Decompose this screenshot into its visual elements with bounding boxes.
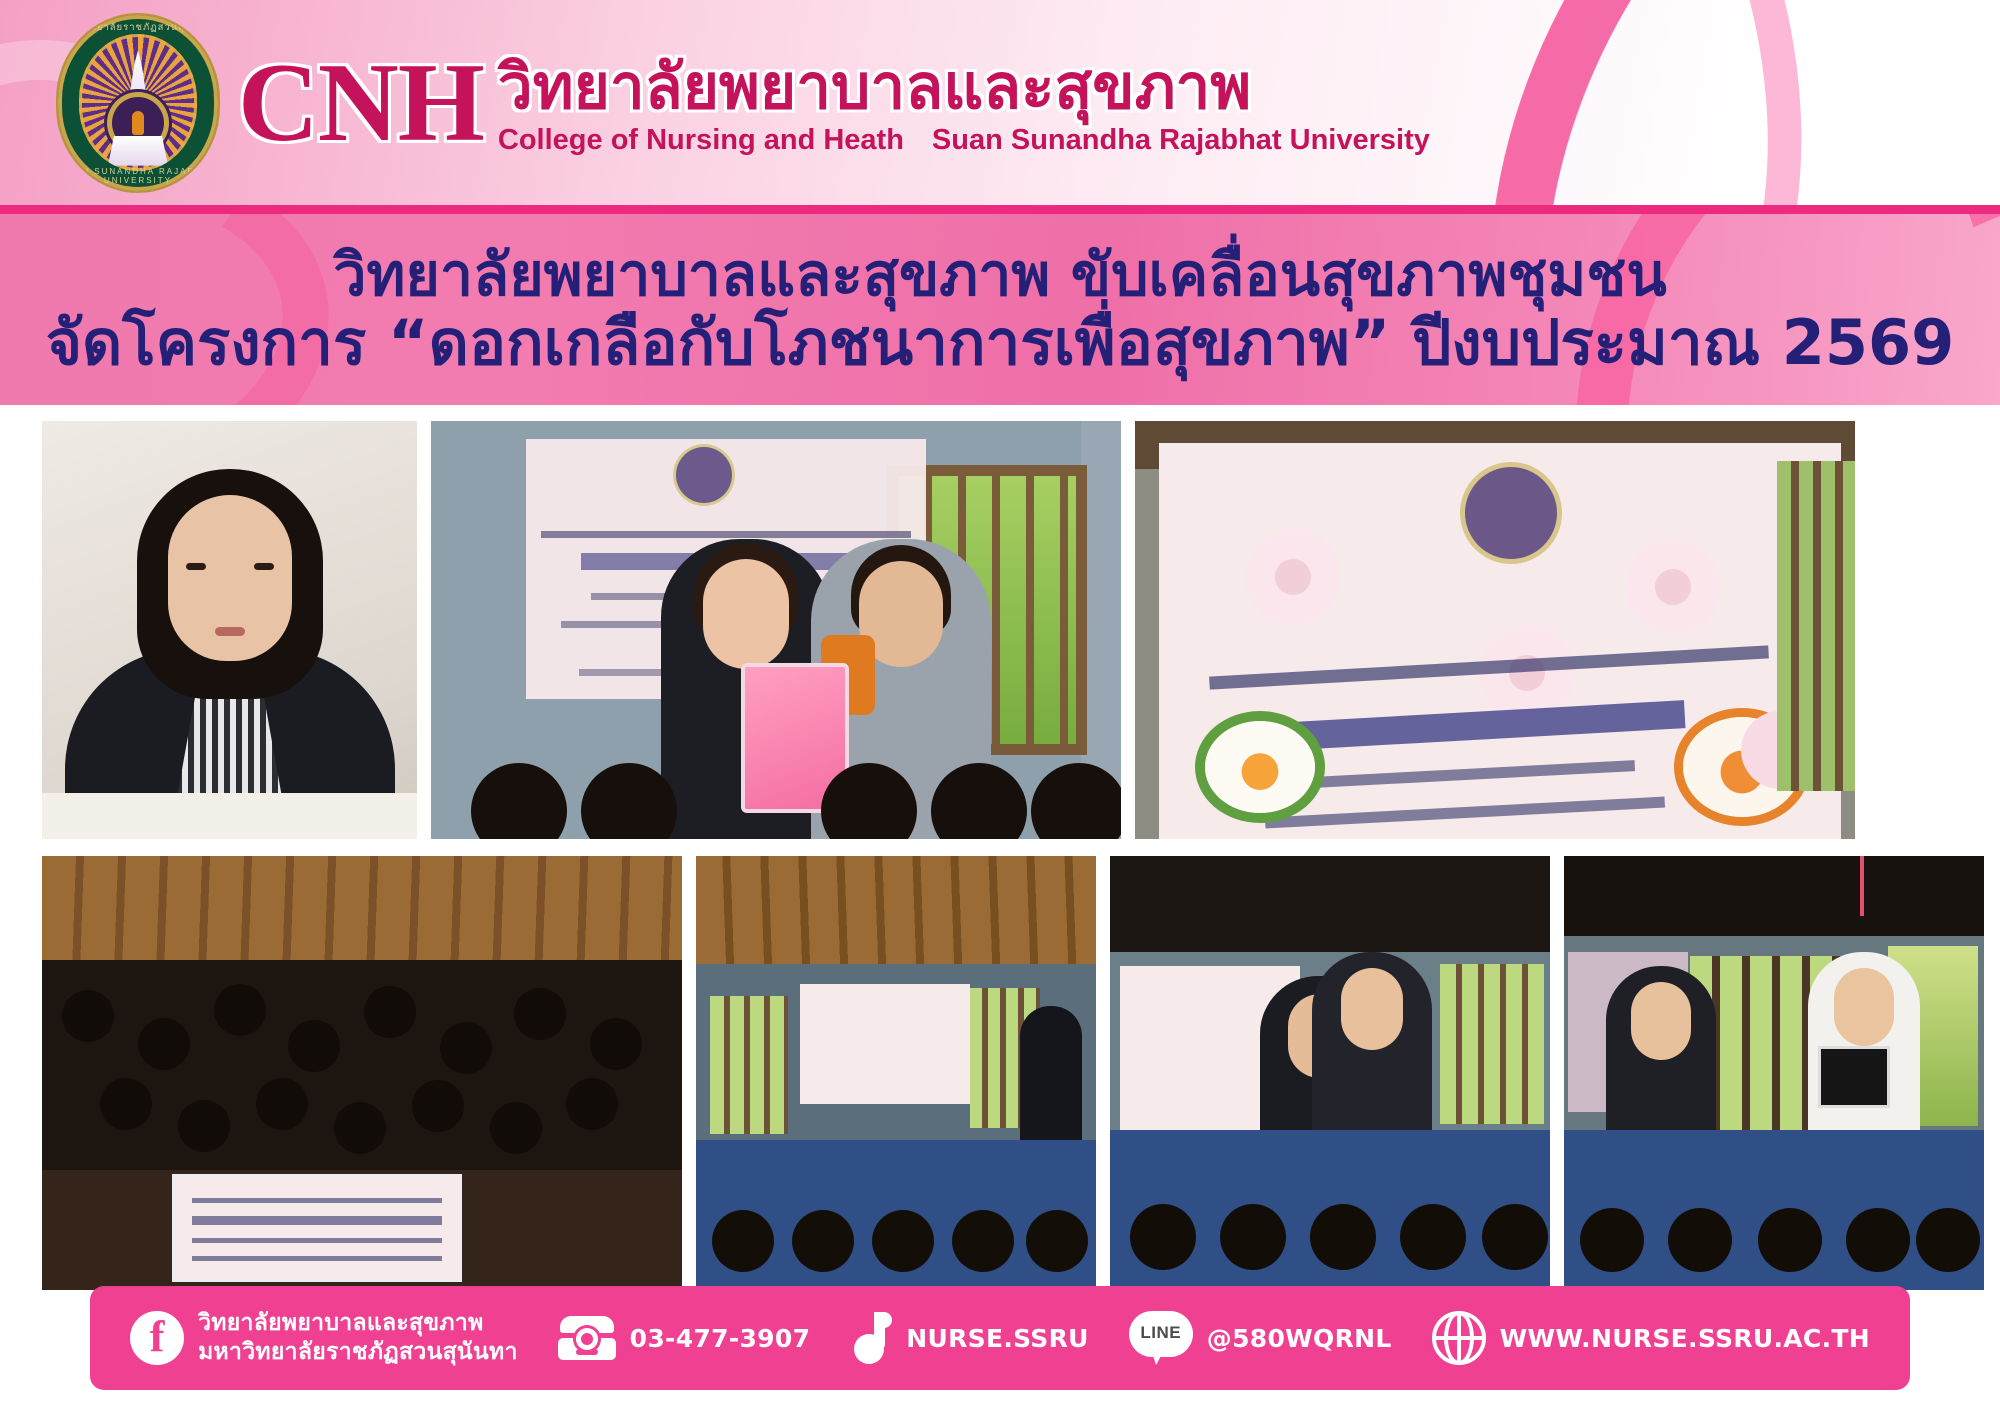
banner-title-line-2: จัดโครงการ “ดอกเกลือกับโภชนาการเพื่อสุขภ…: [46, 308, 1955, 377]
wooden-roof: [42, 856, 682, 976]
backdrop-banner: [800, 984, 970, 1104]
contact-footer: วิทยาลัยพยาบาลและสุขภาพ มหาวิทยาลัยราชภั…: [90, 1286, 1910, 1390]
title-banner: วิทยาลัยพยาบาลและสุขภาพ ขับเคลื่อนสุขภาพ…: [0, 205, 2000, 405]
person-eye-right: [254, 563, 274, 570]
footer-item-tiktok[interactable]: NURSE.SSRU: [850, 1312, 1089, 1364]
person-eye-left: [186, 563, 206, 570]
ssru-seal-icon: มหาวิทยาลัยราชภัฏสวนสุนันทา SUAN SUNANDH…: [58, 15, 218, 191]
footer-facebook-label: วิทยาลัยพยาบาลและสุขภาพ มหาวิทยาลัยราชภั…: [198, 1309, 518, 1368]
footer-line-label: @580WQRNL: [1207, 1324, 1392, 1353]
seal-base: [108, 136, 168, 166]
brand-thai-name: วิทยาลัยพยาบาลและสุขภาพ: [498, 56, 1430, 118]
window-left: [710, 996, 788, 1134]
audience-heads: [431, 749, 1121, 839]
hanging-cord: [1860, 856, 1864, 916]
seal-inner: [79, 34, 197, 171]
window-right: [1440, 964, 1544, 1124]
photo-lecture-room[interactable]: บรรยากาศการอบรมในศาลาชุมชน: [696, 856, 1096, 1290]
brand-block: CNH วิทยาลัยพยาบาลและสุขภาพ College of N…: [238, 48, 1430, 157]
held-banner: [172, 1174, 462, 1282]
photo-portrait-speaker[interactable]: ภาพบุคลากรวิทยาลัยพยาบาลและสุขภาพ: [42, 421, 417, 839]
person-mouth: [215, 627, 245, 636]
gallery-row-top: ภาพบุคลากรวิทยาลัยพยาบาลและสุขภาพ มอบของ…: [42, 421, 1958, 839]
banner-title-line-1: วิทยาลัยพยาบาลและสุขภาพ ขับเคลื่อนสุขภาพ…: [333, 242, 1666, 308]
brand-university-english: Suan Sunandha Rajabhat University: [932, 124, 1430, 157]
crowd-block: [42, 960, 682, 1170]
facebook-label-line-1: วิทยาลัยพยาบาลและสุขภาพ: [198, 1310, 483, 1336]
footer-tiktok-label: NURSE.SSRU: [906, 1324, 1089, 1353]
photo-award-handover[interactable]: มอบของที่ระลึกหน้าป้ายโครงการ: [431, 421, 1121, 839]
dark-roof: [1110, 856, 1550, 952]
footer-website-label: WWW.NURSE.SSRU.AC.TH: [1500, 1324, 1870, 1353]
photo-gallery: ภาพบุคลากรวิทยาลัยพยาบาลและสุขภาพ มอบของ…: [0, 405, 2000, 1290]
line-icon: LINE: [1129, 1311, 1193, 1365]
brand-names: วิทยาลัยพยาบาลและสุขภาพ College of Nursi…: [498, 48, 1430, 157]
window-right: [1777, 461, 1855, 791]
audience-seats: [696, 1140, 1096, 1290]
line-icon-text: LINE: [1129, 1323, 1193, 1343]
footer-item-line[interactable]: LINE @580WQRNL: [1129, 1311, 1392, 1365]
brand-english-name: College of Nursing and Heath: [498, 124, 904, 157]
footer-item-phone[interactable]: 03-477-3907: [558, 1316, 811, 1360]
dark-roof: [1564, 856, 1984, 936]
banner-text-line-1: [541, 531, 911, 538]
desk-surface: [42, 793, 417, 839]
wooden-roof: [696, 856, 1096, 964]
photo-group-photo[interactable]: ภาพหมู่ผู้เข้าร่วมโครงการ: [42, 856, 682, 1290]
banner-university-seal-icon: [1465, 467, 1557, 559]
gallery-row-bottom: ภาพหมู่ผู้เข้าร่วมโครงการ บรรยากาศการอบร…: [42, 856, 1958, 1290]
telephone-icon: [558, 1316, 616, 1360]
footer-phone-label: 03-477-3907: [630, 1324, 811, 1353]
held-sample-card: [1818, 1046, 1890, 1108]
tiktok-icon: [850, 1312, 892, 1364]
page-header: มหาวิทยาลัยราชภัฏสวนสุนันทา SUAN SUNANDH…: [0, 0, 2000, 205]
photo-presentation[interactable]: วิทยากรบรรยายให้ความรู้: [1564, 856, 1984, 1290]
brand-english-row: College of Nursing and Heath Suan Sunand…: [498, 124, 1430, 157]
footer-item-facebook[interactable]: วิทยาลัยพยาบาลและสุขภาพ มหาวิทยาลัยราชภั…: [130, 1309, 518, 1368]
brand-acronym: CNH: [238, 52, 484, 155]
footer-item-website[interactable]: WWW.NURSE.SSRU.AC.TH: [1432, 1311, 1870, 1365]
person-face: [168, 495, 292, 661]
globe-icon: [1432, 1311, 1486, 1365]
banner-seal-icon: [676, 447, 732, 503]
facebook-icon: [130, 1311, 184, 1365]
university-logo: มหาวิทยาลัยราชภัฏสวนสุนันทา SUAN SUNANDH…: [58, 15, 218, 191]
seal-top-text: มหาวิทยาลัยราชภัฏสวนสุนันทา: [58, 20, 218, 35]
audience-seats: [1564, 1130, 1984, 1290]
salt-flower-graphic: [1205, 721, 1315, 813]
photo-project-banner[interactable]: ป้ายโครงการดอกเกลือกับโภชนาการเพื่อสุขภา…: [1135, 421, 1855, 839]
audience-seats: [1110, 1130, 1550, 1290]
photo-participant-demo[interactable]: ผู้เข้าร่วมสาธิตกิจกรรม: [1110, 856, 1550, 1290]
facebook-label-line-2: มหาวิทยาลัยราชภัฏสวนสุนันทา: [198, 1339, 518, 1365]
